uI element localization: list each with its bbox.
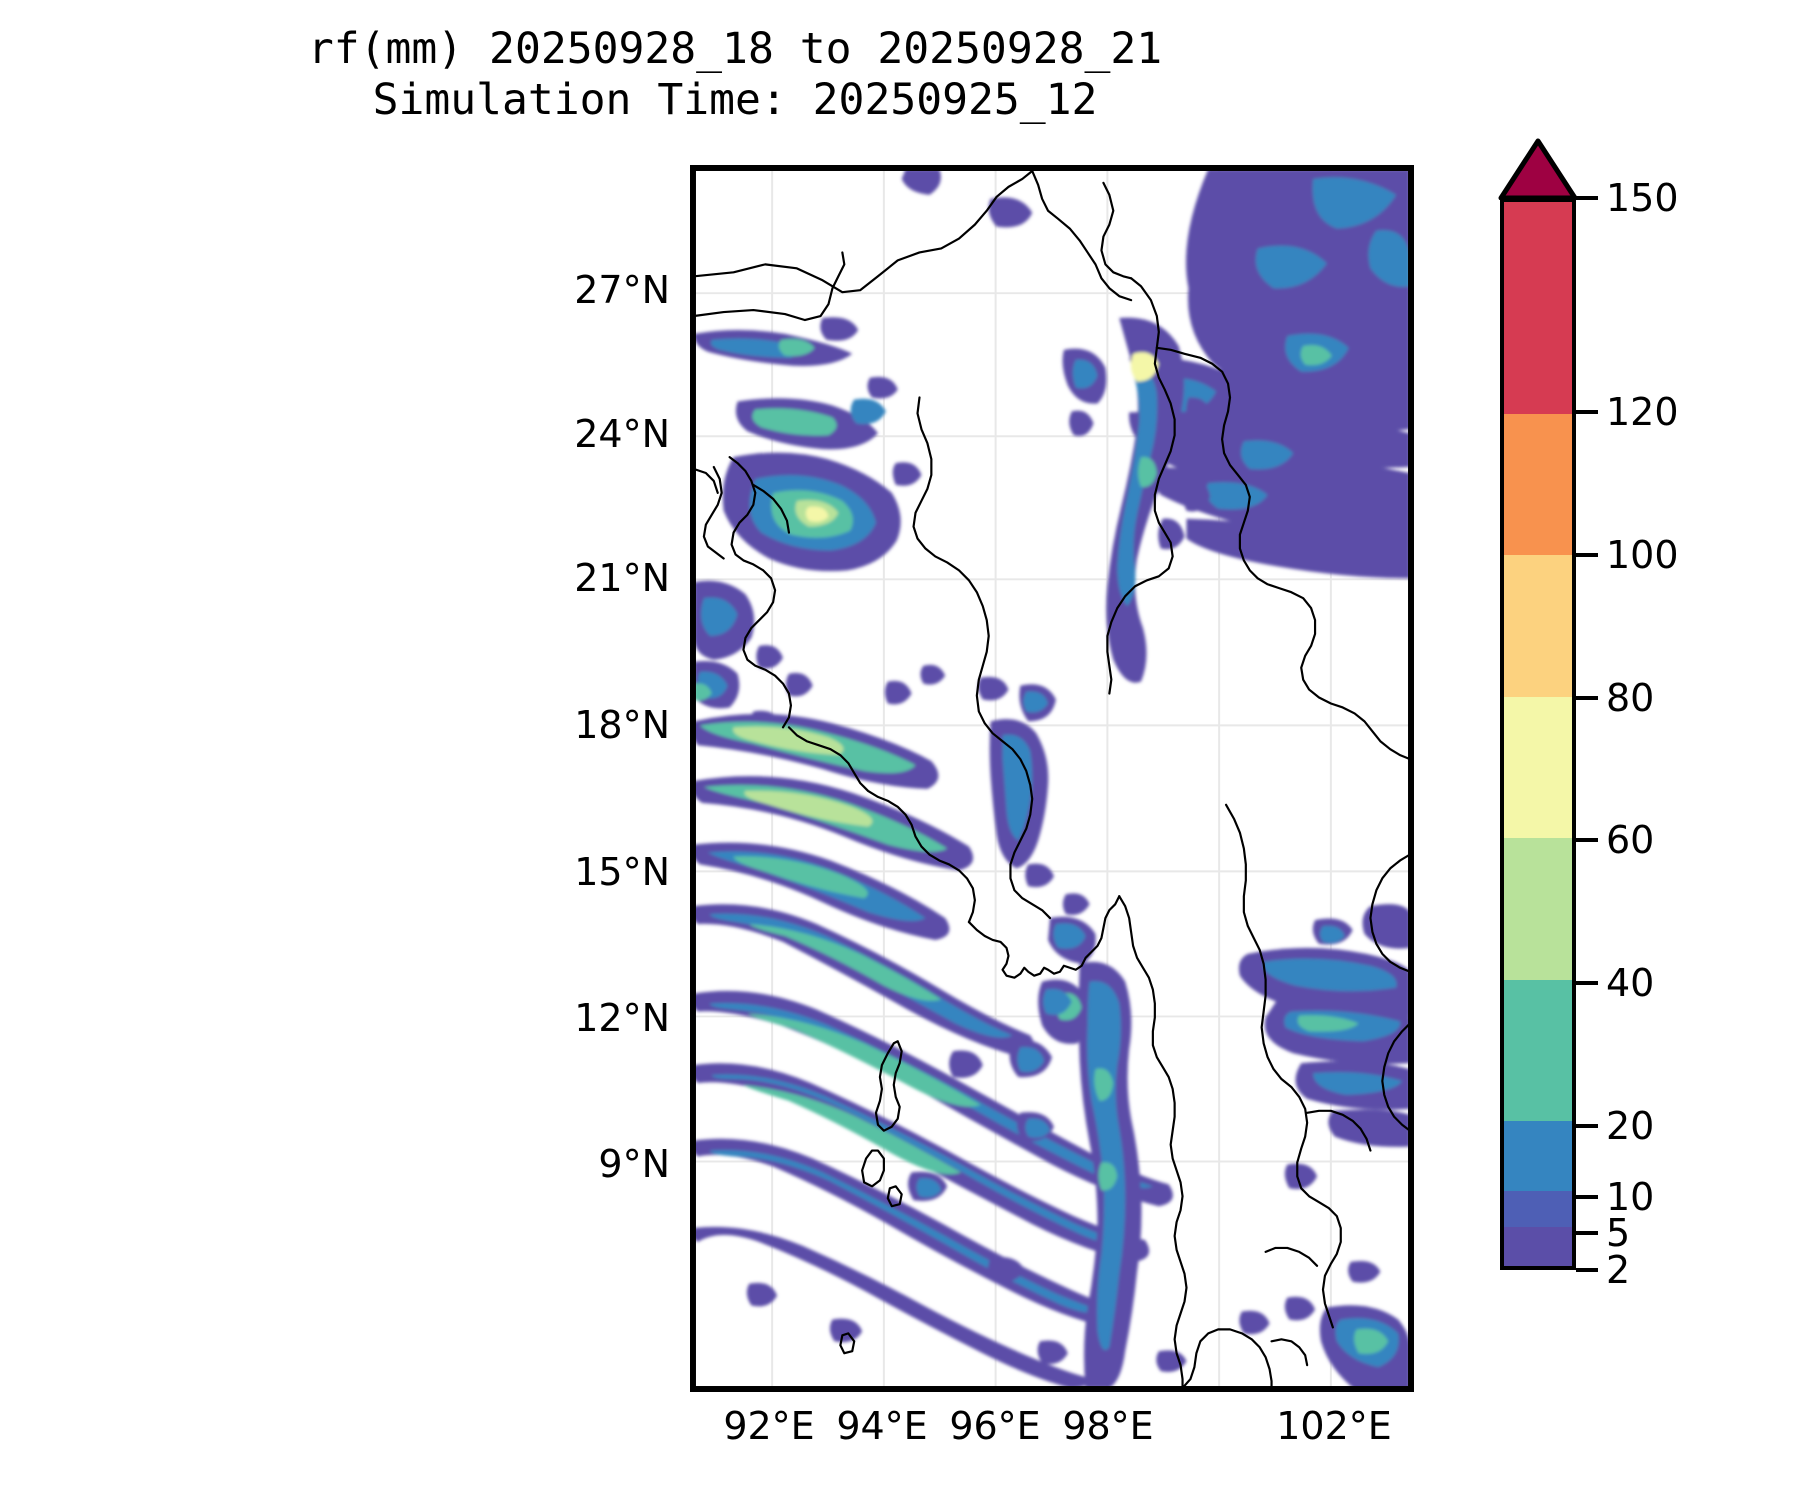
colorbar-tick-2 bbox=[1576, 1268, 1598, 1272]
colorbar-label-2: 2 bbox=[1606, 1248, 1630, 1292]
x-tick-label-96E: 96°E bbox=[949, 1404, 1040, 1448]
figure-title: rf(mm) 20250928_18 to 20250928_21 Simula… bbox=[0, 24, 1470, 125]
colorbar-band-10-20 bbox=[1504, 1121, 1572, 1191]
colorbar-tick-10 bbox=[1576, 1195, 1598, 1199]
colorbar-label-120: 120 bbox=[1606, 390, 1679, 434]
colorbar[interactable]: 150 120 100 80 60 40 20 10 5 2 bbox=[1498, 138, 1578, 1270]
colorbar-tick-5 bbox=[1576, 1231, 1598, 1235]
x-tick-label-94E: 94°E bbox=[836, 1404, 927, 1448]
colorbar-band-60-80 bbox=[1504, 697, 1572, 839]
colorbar-over-arrow bbox=[1498, 138, 1578, 200]
colorbar-tick-20 bbox=[1576, 1124, 1598, 1128]
colorbar-tick-60 bbox=[1576, 838, 1598, 842]
colorbar-bands bbox=[1500, 198, 1576, 1270]
rainfall-map bbox=[694, 169, 1410, 1388]
colorbar-label-60: 60 bbox=[1606, 818, 1654, 862]
colorbar-label-80: 80 bbox=[1606, 676, 1654, 720]
x-tick-label-92E: 92°E bbox=[723, 1404, 814, 1448]
y-tick-label-24N: 24°N bbox=[574, 412, 670, 456]
colorbar-tick-150 bbox=[1576, 196, 1598, 200]
colorbar-tick-100 bbox=[1576, 553, 1598, 557]
y-tick-label-27N: 27°N bbox=[574, 268, 670, 312]
colorbar-band-2-5 bbox=[1504, 1227, 1572, 1266]
colorbar-band-20-40 bbox=[1504, 980, 1572, 1122]
y-tick-label-18N: 18°N bbox=[574, 703, 670, 747]
colorbar-tick-120 bbox=[1576, 410, 1598, 414]
map-plot-area bbox=[694, 169, 1410, 1388]
x-tick-label-102E: 102°E bbox=[1276, 1404, 1392, 1448]
colorbar-label-40: 40 bbox=[1606, 961, 1654, 1005]
colorbar-label-20: 20 bbox=[1606, 1104, 1654, 1148]
colorbar-label-100: 100 bbox=[1606, 533, 1679, 577]
colorbar-band-100-120 bbox=[1504, 414, 1572, 556]
y-tick-label-21N: 21°N bbox=[574, 556, 670, 600]
map-axes[interactable] bbox=[690, 165, 1414, 1392]
colorbar-band-40-60 bbox=[1504, 838, 1572, 980]
title-line-2: Simulation Time: 20250925_12 bbox=[0, 75, 1470, 126]
x-tick-label-98E: 98°E bbox=[1062, 1404, 1153, 1448]
colorbar-tick-40 bbox=[1576, 981, 1598, 985]
title-line-1: rf(mm) 20250928_18 to 20250928_21 bbox=[0, 24, 1470, 75]
colorbar-label-150: 150 bbox=[1606, 176, 1679, 220]
y-tick-label-15N: 15°N bbox=[574, 850, 670, 894]
colorbar-band-80-100 bbox=[1504, 555, 1572, 697]
colorbar-band-5-10 bbox=[1504, 1191, 1572, 1226]
y-tick-label-12N: 12°N bbox=[574, 996, 670, 1040]
colorbar-tick-80 bbox=[1576, 696, 1598, 700]
colorbar-band-120-150 bbox=[1504, 202, 1572, 414]
y-tick-label-9N: 9°N bbox=[598, 1142, 670, 1186]
